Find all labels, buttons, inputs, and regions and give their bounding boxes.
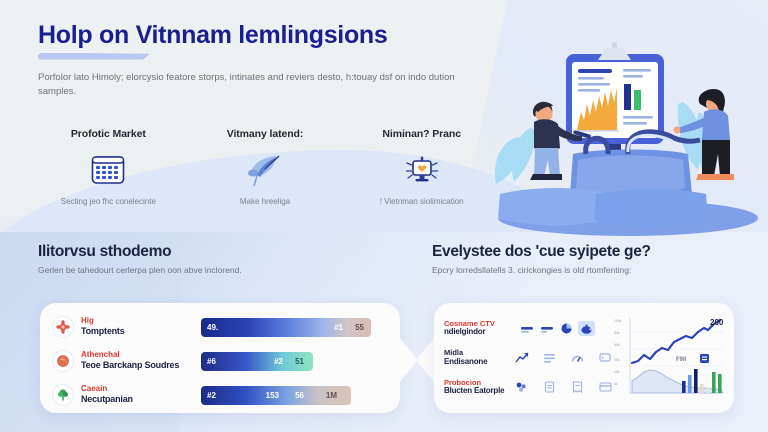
progress-bar[interactable]: #2 153 56 1M — [201, 386, 351, 405]
document-icon[interactable] — [541, 380, 558, 395]
page-subtitle: Porfolor lato Himoly; elorcysio featore … — [38, 71, 478, 100]
row-label-top: Hig — [81, 317, 201, 326]
row-label-bottom: Necutpanian — [81, 394, 201, 404]
infographic-canvas: Holp on Vitnnam lemlingsions Porfolor la… — [0, 0, 768, 432]
insights-content: Cosname CTV ndielgindor — [434, 303, 734, 413]
row-label-top: Caeain — [81, 385, 201, 394]
insight-icon-group — [513, 350, 614, 365]
bar-line-icon[interactable] — [538, 321, 555, 336]
row-label-bottom: Tomptents — [81, 326, 201, 336]
receipt-icon[interactable] — [569, 380, 586, 395]
bar-value-far: 1M — [326, 391, 337, 400]
orange-circle-icon — [52, 350, 74, 372]
insight-labels: Cosname CTV ndielgindor — [444, 320, 514, 337]
list-lines-icon[interactable] — [541, 350, 558, 365]
bar-value-right: 56 — [295, 391, 304, 400]
svg-text:60k: 60k — [614, 343, 620, 347]
left-panel-subtitle: Gerlen be tahedourt cerlerpa plen oon ab… — [38, 265, 388, 275]
insight-icon-group — [518, 321, 595, 336]
row-labels: Caeain Necutpanian — [81, 385, 201, 404]
trend-up-icon[interactable] — [513, 350, 530, 365]
left-panel-header: Ilitorvsu sthodemo Gerlen be tahedourt c… — [38, 243, 388, 275]
row-labels: Hig Tomptents — [81, 317, 201, 336]
insight-icon-group — [513, 380, 614, 395]
right-panel-heading: Evelystee dos 'cue syipete ge? — [432, 243, 752, 261]
green-tree-icon — [52, 384, 74, 406]
page-header: Holp on Vitnnam lemlingsions Porfolor la… — [38, 22, 508, 100]
svg-text:40k: 40k — [614, 358, 620, 362]
table-row[interactable]: Athenchal Teoe Barckanp Soudres #6 #2 51 — [52, 347, 388, 375]
insight-label-bottom: ndielgindor — [444, 328, 514, 337]
bar-container: 49. #1 55 — [201, 318, 388, 337]
insight-label-bottom: Blucten Eatorple — [444, 387, 509, 396]
svg-text:0k: 0k — [614, 382, 618, 386]
row-label-top: Athenchal — [81, 351, 201, 360]
insight-labels: Midla Endisanone — [444, 349, 509, 366]
bar-value-left: 49. — [207, 323, 218, 332]
ranking-row-list: Hig Tomptents 49. #1 55 — [40, 303, 400, 419]
bar-value-mid: #1 — [334, 323, 343, 332]
feature-list: Profotic Market Secting jeo fhc coneleci — [30, 128, 500, 206]
row-labels: Athenchal Teoe Barckanp Soudres — [81, 351, 201, 370]
ranking-card: Hig Tomptents 49. #1 55 — [40, 303, 400, 413]
bar-value-left: #6 — [207, 357, 216, 366]
svg-text:100k: 100k — [614, 319, 622, 323]
insights-card: Cosname CTV ndielgindor — [434, 303, 734, 413]
leaf-feather-icon — [191, 149, 340, 191]
piggy-bank-icon[interactable] — [578, 321, 595, 336]
table-row[interactable]: Hig Tomptents 49. #1 55 — [52, 313, 388, 341]
row-label-bottom: Teoe Barckanp Soudres — [81, 360, 201, 370]
list-item[interactable]: Midla Endisanone — [444, 344, 614, 372]
feature-title: Vitmany latend: — [191, 128, 340, 140]
monitor-heart-icon — [347, 149, 496, 191]
bar-value-mid: #2 — [274, 357, 283, 366]
calendar-grid-icon — [34, 149, 183, 191]
feature-caption: Make hreeliga — [191, 197, 340, 206]
bar-container: #2 153 56 1M — [201, 386, 388, 405]
title-underline — [38, 53, 150, 60]
right-panel-header: Evelystee dos 'cue syipete ge? Epcry lor… — [432, 243, 752, 275]
card-connector-notch — [396, 338, 436, 382]
insights-row-list: Cosname CTV ndielgindor — [444, 314, 614, 402]
table-row[interactable]: Caeain Necutpanian #2 153 56 1M — [52, 381, 388, 409]
progress-bar[interactable]: #6 #2 51 — [201, 352, 313, 371]
insight-labels: Probocion Blucten Eatorple — [444, 379, 509, 396]
progress-bar[interactable]: 49. #1 55 — [201, 318, 371, 337]
feature-title: Profotic Market — [34, 128, 183, 140]
gauge-icon[interactable] — [569, 350, 586, 365]
svg-text:20k: 20k — [614, 370, 620, 374]
svg-text:80k: 80k — [614, 331, 620, 335]
red-blossom-icon — [52, 316, 74, 338]
chart-value-label: 200 — [710, 318, 724, 327]
feature-item-market[interactable]: Profotic Market Secting jeo fhc coneleci — [30, 128, 187, 206]
pie-chart-icon[interactable] — [558, 321, 575, 336]
list-item[interactable]: Cosname CTV ndielgindor — [444, 315, 614, 343]
list-item[interactable]: Probocion Blucten Eatorple — [444, 373, 614, 401]
team-analytics-illustration — [478, 42, 768, 237]
insight-label-bottom: Endisanone — [444, 358, 509, 367]
bar-container: #6 #2 51 — [201, 352, 388, 371]
trend-chart: 100k80k60k 40k20k0k — [614, 314, 726, 402]
bar-line-icon[interactable] — [518, 321, 535, 336]
card-icon[interactable] — [597, 380, 614, 395]
feature-title: Niminan? Pranc — [347, 128, 496, 140]
page-title: Holp on Vitnnam lemlingsions — [38, 22, 508, 50]
feature-item-leaf[interactable]: Vitmany latend: Make hreeliga — [187, 128, 344, 206]
right-panel-subtitle: Epcry lorredsllatells 3. cirickongies is… — [432, 265, 752, 275]
tag-icon[interactable] — [597, 350, 614, 365]
left-panel-heading: Ilitorvsu sthodemo — [38, 243, 388, 261]
feature-caption: ! Vietnman siolimication — [347, 197, 496, 206]
feature-caption: Secting jeo fhc conelecinte — [34, 197, 183, 206]
bar-value-right: 55 — [355, 323, 364, 332]
cluster-icon[interactable] — [513, 380, 530, 395]
bar-value-mid: 153 — [266, 391, 279, 400]
chart-legend-label: F9Il — [676, 357, 687, 363]
feature-item-monitor[interactable]: Niminan? Pranc ! Vietnman siolimi — [343, 128, 500, 206]
chart-badge-icon — [700, 354, 709, 363]
bar-value-right: 51 — [295, 357, 304, 366]
bar-value-left: #2 — [207, 391, 216, 400]
